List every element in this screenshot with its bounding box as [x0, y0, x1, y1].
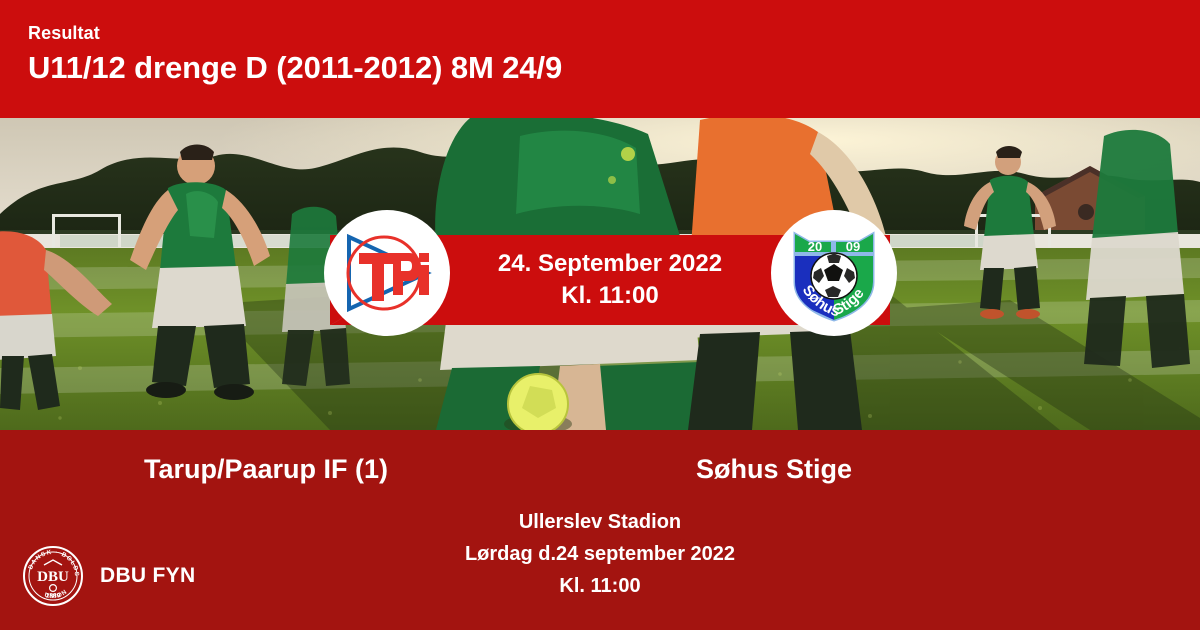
- venue-stadium: Ullerslev Stadion: [0, 506, 1200, 538]
- away-team-name: Søhus Stige: [600, 452, 1200, 486]
- match-photo: [0, 118, 1200, 430]
- football-pitch-illustration: [0, 118, 1200, 430]
- teams-row: Tarup/Paarup IF (1) Søhus Stige: [0, 452, 1200, 486]
- seal-year: 1889: [46, 593, 61, 600]
- header-kicker: Resultat: [28, 22, 1200, 44]
- poster-header: Resultat U11/12 drenge D (2011-2012) 8M …: [0, 0, 1200, 118]
- dbu-seal-icon: DANSK · BOLDSPIL · UNION DBU 1889: [22, 545, 84, 607]
- home-team-name: Tarup/Paarup IF (1): [0, 452, 600, 486]
- tpi-crest-icon: [335, 221, 439, 325]
- result-poster: Resultat U11/12 drenge D (2011-2012) 8M …: [0, 0, 1200, 630]
- page-title: U11/12 drenge D (2011-2012) 8M 24/9: [28, 48, 1200, 88]
- crest-year-left: 20: [808, 239, 822, 254]
- footer-label: DBU FYN: [100, 564, 195, 588]
- crest-year-right: 09: [846, 239, 860, 254]
- home-team-crest: [324, 210, 450, 336]
- sohus-stige-crest-icon: 20 09 Søhus Stige: [781, 220, 887, 326]
- away-team-crest: 20 09 Søhus Stige: [771, 210, 897, 336]
- dbu-logo: DANSK · BOLDSPIL · UNION DBU 1889: [22, 545, 84, 607]
- seal-monogram: DBU: [37, 569, 69, 585]
- footer: DANSK · BOLDSPIL · UNION DBU 1889 DBU FY…: [22, 545, 195, 607]
